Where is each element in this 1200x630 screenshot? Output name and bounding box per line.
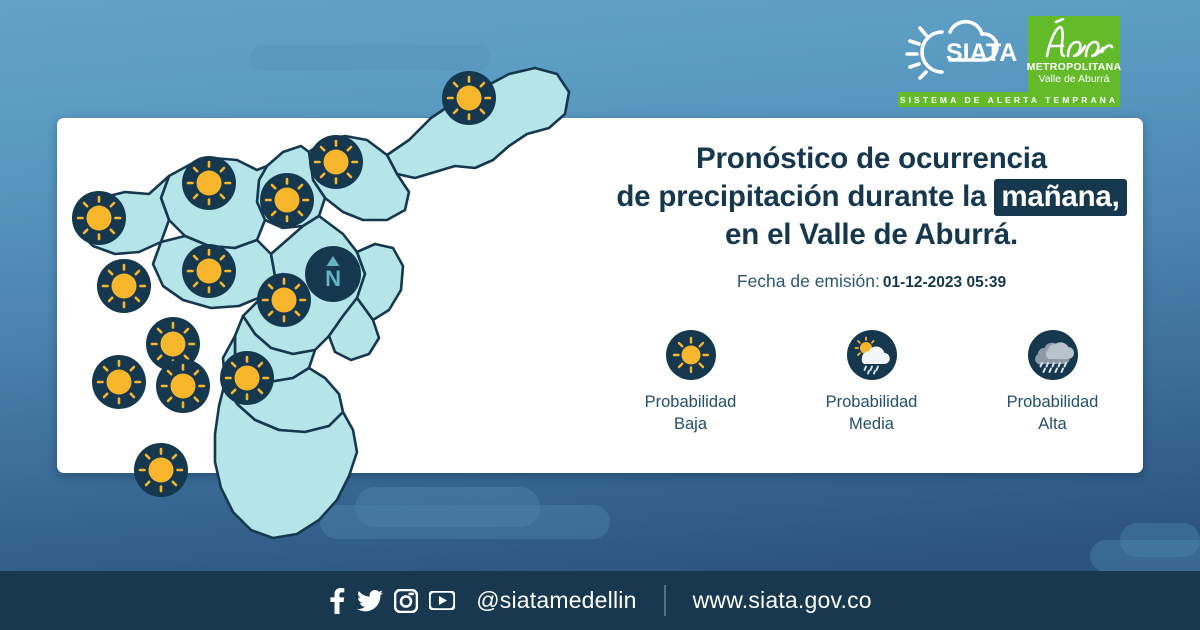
siata-logo-icon: SIATA [898, 16, 1018, 88]
title-line-1: Pronóstico de ocurrencia [600, 140, 1143, 178]
area-line2: Valle de Aburrá [1038, 73, 1109, 85]
map-marker[interactable] [182, 156, 236, 210]
emission-value: 01-12-2023 05:39 [883, 274, 1006, 291]
compass-label: N [325, 266, 341, 291]
tagline-bar: SISTEMA DE ALERTA TEMPRANA [898, 92, 1120, 107]
sun-icon [666, 330, 716, 380]
legend-baja-line1: Probabilidad [611, 391, 771, 413]
page-title: Pronóstico de ocurrencia de precipitació… [600, 140, 1143, 254]
footer-divider [664, 585, 666, 616]
legend-label-baja: Probabilidad Baja [611, 391, 771, 435]
twitter-icon[interactable] [357, 590, 383, 612]
valle-de-aburra-map: N [57, 118, 597, 588]
map-marker[interactable] [257, 273, 311, 327]
map-marker[interactable] [134, 443, 188, 497]
probability-legend: Probabilidad Baja [600, 330, 1143, 435]
brand-logos: SIATA METROPOLITANA Valle de Aburrá [898, 16, 1120, 92]
map-marker[interactable] [156, 359, 210, 413]
legend-label-media: Probabilidad Media [792, 391, 952, 435]
siata-wordmark: SIATA [946, 39, 1017, 67]
map-marker[interactable] [260, 173, 314, 227]
map-marker[interactable] [97, 259, 151, 313]
area-line1: METROPOLITANA [1027, 62, 1122, 73]
legend-item-media[interactable]: Probabilidad Media [792, 330, 952, 435]
social-icons [328, 588, 455, 614]
youtube-icon[interactable] [429, 591, 455, 610]
area-metropolitana-logo: METROPOLITANA Valle de Aburrá [1028, 16, 1120, 92]
rain-cloud-icon [1028, 330, 1078, 380]
title-line-2-text: de precipitación durante la [616, 180, 994, 213]
map-marker[interactable] [182, 244, 236, 298]
title-highlight: mañana, [994, 179, 1126, 216]
legend-media-line1: Probabilidad [792, 391, 952, 413]
compass-north-icon: N [305, 246, 361, 302]
map-marker[interactable] [92, 355, 146, 409]
title-line-3: en el Valle de Aburrá. [600, 216, 1143, 254]
map-marker[interactable] [220, 351, 274, 405]
area-script-icon [1034, 18, 1114, 62]
legend-baja-line2: Baja [611, 413, 771, 435]
map-marker[interactable] [442, 71, 496, 125]
sun-cloud-rain-icon [847, 330, 897, 380]
legend-media-line2: Media [792, 413, 952, 435]
map-marker[interactable] [309, 135, 363, 189]
legend-alta-line1: Probabilidad [973, 391, 1133, 413]
map-marker[interactable] [72, 191, 126, 245]
legend-label-alta: Probabilidad Alta [973, 391, 1133, 435]
footer-bar: @siatamedellin www.siata.gov.co [0, 571, 1200, 630]
emission-date: Fecha de emisión:01-12-2023 05:39 [600, 271, 1143, 292]
background-cloud-icon [1090, 540, 1200, 572]
legend-alta-line2: Alta [973, 413, 1133, 435]
headline-block: Pronóstico de ocurrencia de precipitació… [600, 140, 1143, 292]
emission-label: Fecha de emisión: [737, 271, 880, 291]
facebook-icon[interactable] [328, 588, 346, 614]
instagram-icon[interactable] [394, 589, 418, 613]
website-url[interactable]: www.siata.gov.co [693, 587, 872, 614]
legend-item-baja[interactable]: Probabilidad Baja [611, 330, 771, 435]
legend-item-alta[interactable]: Probabilidad Alta [973, 330, 1133, 435]
title-line-2: de precipitación durante la mañana, [600, 178, 1143, 216]
infographic-root: SIATA METROPOLITANA Valle de Aburrá SIST… [0, 0, 1200, 630]
social-handle[interactable]: @siatamedellin [476, 587, 636, 614]
tagline-text: SISTEMA DE ALERTA TEMPRANA [900, 95, 1118, 105]
map-svg: N [57, 48, 597, 588]
